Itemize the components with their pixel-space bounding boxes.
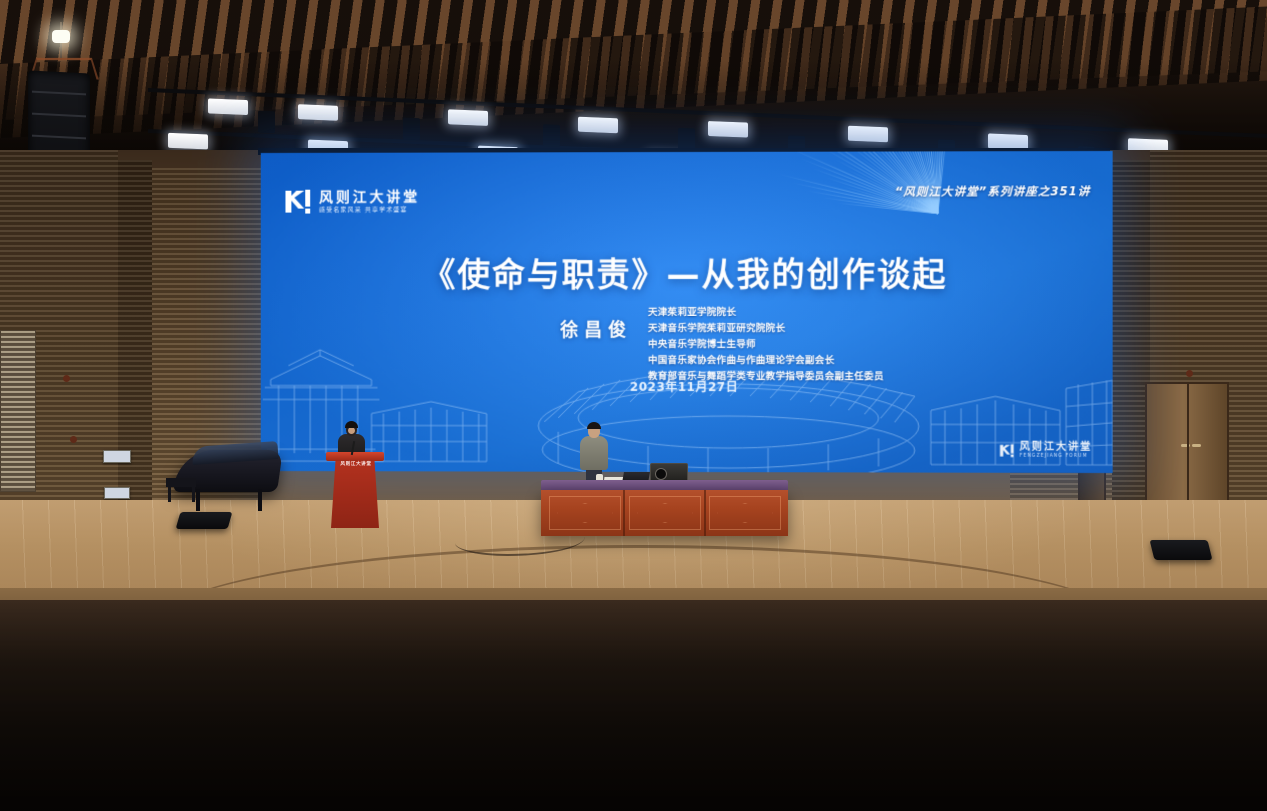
led-backdrop-screen: 风则江大讲堂 感受名家风采 共享学术盛宴 “风则江大讲堂”系列讲座之351讲 《… bbox=[261, 151, 1113, 473]
table-presenter-body bbox=[580, 436, 608, 470]
ventilation-grille bbox=[0, 330, 36, 492]
wall-sign-plate bbox=[104, 487, 130, 499]
podium-presenter-face bbox=[348, 427, 355, 434]
fengzejiang-mark-icon bbox=[998, 442, 1014, 458]
conference-table-front bbox=[541, 490, 788, 536]
fengzejiang-mark-icon bbox=[283, 187, 313, 217]
podium-front-text: 风则江大讲堂 bbox=[336, 461, 376, 467]
lecture-series-label: “风则江大讲堂”系列讲座之351讲 bbox=[895, 183, 1091, 199]
wall-light-fitting bbox=[70, 436, 77, 443]
screen-corner-logo: 风则江大讲堂 FENGZEJIANG FORUM bbox=[998, 442, 1092, 459]
wall-light-fitting bbox=[63, 375, 70, 382]
corner-logo-name-en: FENGZEJIANG FORUM bbox=[1020, 454, 1093, 459]
brand-slogan: 感受名家风采 共享学术盛宴 bbox=[319, 207, 420, 213]
audience-area bbox=[0, 600, 1267, 811]
wall-light-fitting bbox=[1186, 370, 1193, 377]
lecture-date: 2023年11月27日 bbox=[261, 378, 1113, 396]
speaker-info-block: 徐昌俊 天津茱莉亚学院院长 天津音乐学院茱莉亚研究院院长 中央音乐学院博士生导师… bbox=[560, 304, 883, 382]
stage-monitor-right bbox=[1150, 540, 1213, 560]
wall-sign-plate bbox=[103, 450, 131, 463]
lecture-main-title: 《使命与职责》—从我的创作谈起 bbox=[261, 248, 1113, 297]
credential-line: 天津茱莉亚学院院长 bbox=[648, 304, 884, 318]
speaker-name: 徐昌俊 bbox=[560, 304, 632, 342]
lecture-hall-photo: 风则江大讲堂 感受名家风采 共享学术盛宴 “风则江大讲堂”系列讲座之351讲 《… bbox=[0, 0, 1267, 811]
screen-brand-logo: 风则江大讲堂 感受名家风采 共享学术盛宴 bbox=[283, 186, 421, 216]
corner-logo-name-cn: 风则江大讲堂 bbox=[1020, 442, 1093, 452]
speaker-credentials-list: 天津茱莉亚学院院长 天津音乐学院茱莉亚研究院院长 中央音乐学院博士生导师 中国音… bbox=[648, 304, 884, 382]
double-door-right[interactable] bbox=[1145, 382, 1229, 511]
credential-line: 中国音乐家协会作曲与作曲理论学会副会长 bbox=[648, 352, 884, 366]
brand-name-cn: 风则江大讲堂 bbox=[319, 190, 420, 204]
credential-line: 中央音乐学院博士生导师 bbox=[648, 336, 884, 350]
spotlight-icon bbox=[52, 30, 70, 43]
projector-lens-icon bbox=[655, 468, 667, 480]
podium-presenter-hair bbox=[345, 421, 358, 428]
credential-line: 天津音乐学院茱莉亚研究院院长 bbox=[648, 320, 884, 334]
podium-top bbox=[326, 452, 384, 461]
table-presenter-hair bbox=[587, 422, 601, 429]
stage-monitor-left bbox=[176, 512, 233, 529]
